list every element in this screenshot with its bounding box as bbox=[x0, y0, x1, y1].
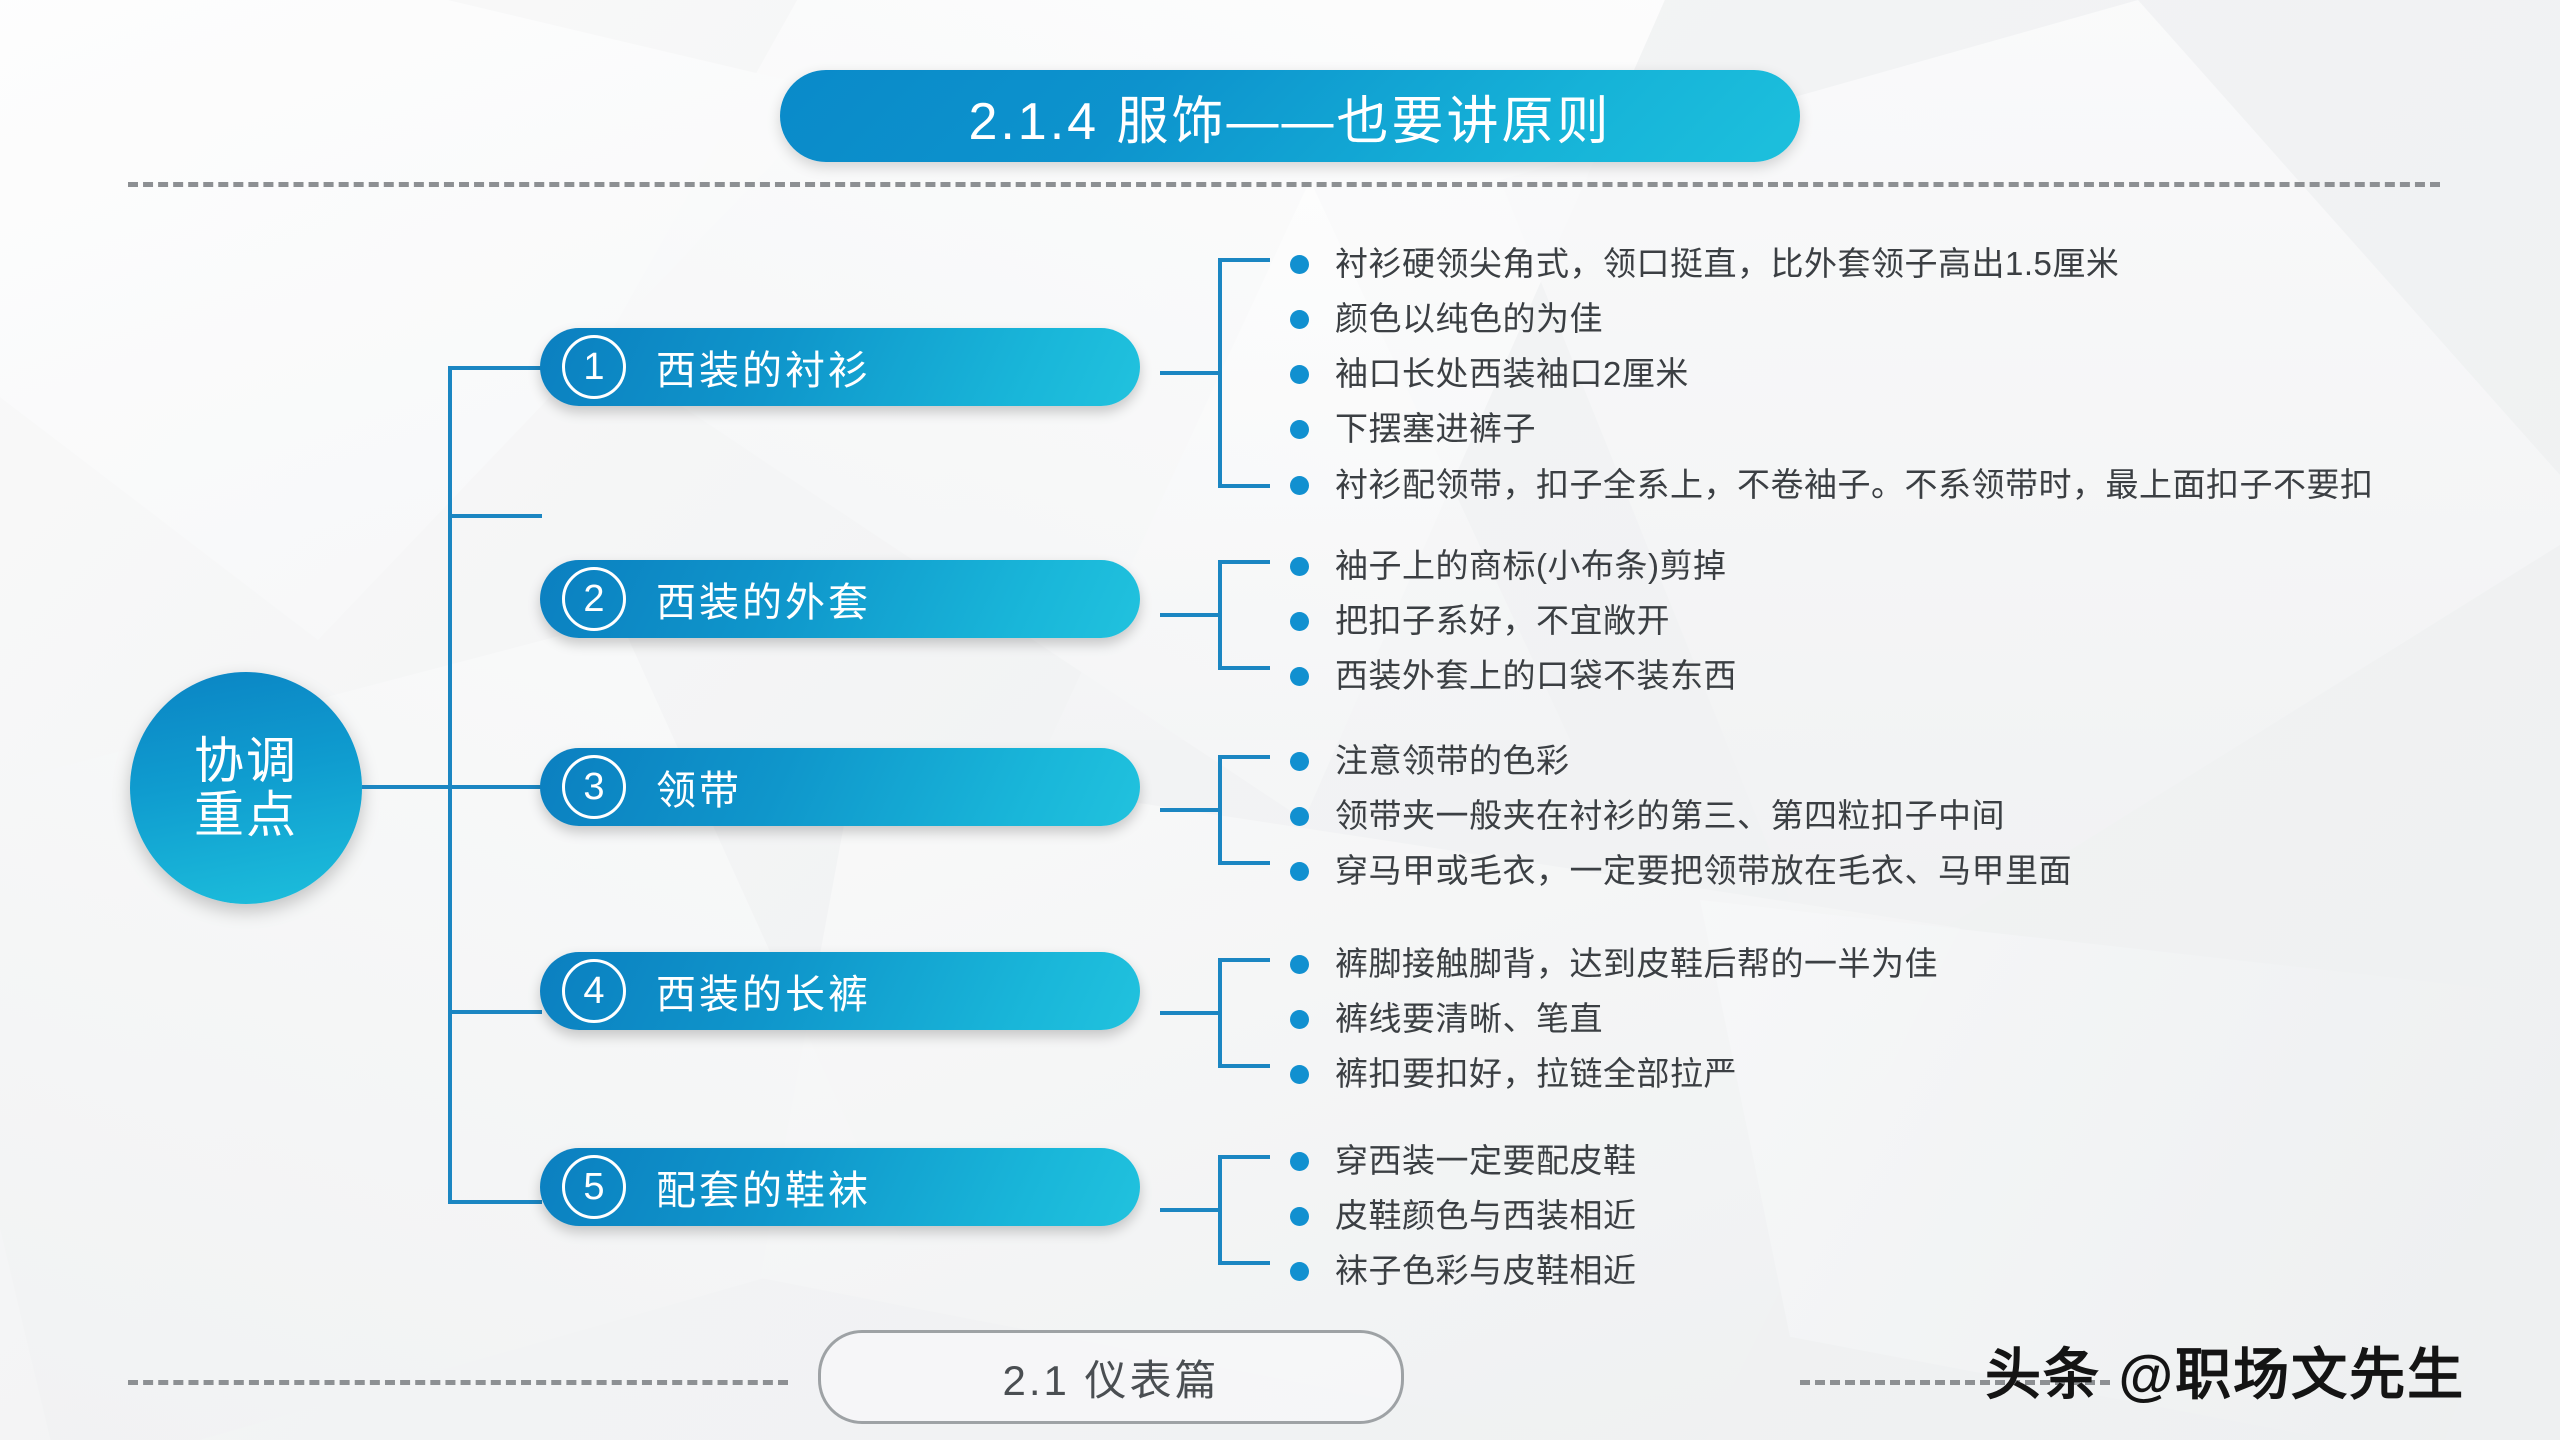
branch-node-3[interactable]: 3 领带 bbox=[540, 748, 1140, 826]
bracket-vertical bbox=[1218, 755, 1222, 865]
page-title: 2.1.4 服饰——也要讲原则 bbox=[968, 79, 1611, 154]
bullet-group-4: 裤脚接触脚背，达到皮鞋后帮的一半为佳 裤线要清晰、笔直 裤扣要扣好，拉链全部拉严 bbox=[1290, 938, 1938, 1103]
bullet-text: 西装外套上的口袋不装东西 bbox=[1335, 650, 1737, 701]
bullet-text: 衬衫配领带，扣子全系上，不卷袖子。不系领带时，最上面扣子不要扣 bbox=[1335, 459, 2374, 510]
bullet-group-3: 注意领带的色彩 领带夹一般夹在衬衫的第三、第四粒扣子中间 穿马甲或毛衣，一定要把… bbox=[1290, 735, 2072, 900]
footer-dashed-divider-left bbox=[128, 1380, 788, 1385]
bullet-dot-icon bbox=[1290, 255, 1309, 274]
branch-number-4: 4 bbox=[562, 959, 626, 1023]
list-item: 西装外套上的口袋不装东西 bbox=[1290, 650, 1737, 701]
list-item: 衬衫硬领尖角式，领口挺直，比外套领子高出1.5厘米 bbox=[1290, 238, 2374, 289]
branch-node-2[interactable]: 2 西装的外套 bbox=[540, 560, 1140, 638]
list-item: 颜色以纯色的为佳 bbox=[1290, 293, 2374, 344]
bracket-bottom-arm bbox=[1218, 666, 1270, 670]
bullet-group-2: 袖子上的商标(小布条)剪掉 把扣子系好，不宜敞开 西装外套上的口袋不装东西 bbox=[1290, 540, 1737, 705]
list-item: 衬衫配领带，扣子全系上，不卷袖子。不系领带时，最上面扣子不要扣 bbox=[1290, 459, 2374, 510]
bullet-dot-icon bbox=[1290, 807, 1309, 826]
bracket-lead-line bbox=[1160, 1011, 1218, 1015]
list-item: 袖子上的商标(小布条)剪掉 bbox=[1290, 540, 1737, 591]
bullet-text: 注意领带的色彩 bbox=[1335, 735, 1570, 786]
list-item: 领带夹一般夹在衬衫的第三、第四粒扣子中间 bbox=[1290, 790, 2072, 841]
bullet-text: 裤线要清晰、笔直 bbox=[1335, 993, 1603, 1044]
bullet-text: 穿西装一定要配皮鞋 bbox=[1335, 1135, 1637, 1186]
top-dashed-divider bbox=[128, 182, 2440, 187]
bracket-vertical bbox=[1218, 1155, 1222, 1265]
branch-number-1: 1 bbox=[562, 335, 626, 399]
core-connector-stub bbox=[362, 785, 450, 789]
bullet-text: 袜子色彩与皮鞋相近 bbox=[1335, 1245, 1637, 1296]
bullet-dot-icon bbox=[1290, 862, 1309, 881]
bullet-group-5: 穿西装一定要配皮鞋 皮鞋颜色与西装相近 袜子色彩与皮鞋相近 bbox=[1290, 1135, 1637, 1300]
footer-label: 2.1 仪表篇 bbox=[1002, 1347, 1219, 1408]
bracket-top-arm bbox=[1218, 958, 1270, 962]
branch-label-2: 西装的外套 bbox=[656, 570, 871, 628]
bullet-text: 下摆塞进裤子 bbox=[1335, 403, 1536, 454]
list-item: 袜子色彩与皮鞋相近 bbox=[1290, 1245, 1637, 1296]
central-node-line2: 重点 bbox=[194, 788, 298, 842]
list-item: 注意领带的色彩 bbox=[1290, 735, 2072, 786]
list-item: 裤线要清晰、笔直 bbox=[1290, 993, 1938, 1044]
bullet-dot-icon bbox=[1290, 1262, 1309, 1281]
branch-label-4: 西装的长裤 bbox=[656, 962, 871, 1020]
branch-node-5[interactable]: 5 配套的鞋袜 bbox=[540, 1148, 1140, 1226]
tree-stub-1 bbox=[448, 366, 542, 370]
branch-number-2: 2 bbox=[562, 567, 626, 631]
bullet-text: 穿马甲或毛衣，一定要把领带放在毛衣、马甲里面 bbox=[1335, 845, 2072, 896]
bracket-vertical bbox=[1218, 560, 1222, 670]
bracket-bottom-arm bbox=[1218, 1261, 1270, 1265]
bracket-lead-line bbox=[1160, 1208, 1218, 1212]
bullet-dot-icon bbox=[1290, 752, 1309, 771]
bullet-dot-icon bbox=[1290, 310, 1309, 329]
bullet-text: 把扣子系好，不宜敞开 bbox=[1335, 595, 1670, 646]
tree-stub-3 bbox=[448, 785, 542, 789]
bullet-text: 裤扣要扣好，拉链全部拉严 bbox=[1335, 1048, 1737, 1099]
bullet-dot-icon bbox=[1290, 955, 1309, 974]
branch-label-1: 西装的衬衫 bbox=[656, 338, 871, 396]
central-node: 协调 重点 bbox=[130, 672, 362, 904]
branch-label-5: 配套的鞋袜 bbox=[656, 1158, 871, 1216]
bracket-top-arm bbox=[1218, 258, 1270, 262]
bullet-dot-icon bbox=[1290, 1207, 1309, 1226]
bullet-text: 皮鞋颜色与西装相近 bbox=[1335, 1190, 1637, 1241]
list-item: 穿西装一定要配皮鞋 bbox=[1290, 1135, 1637, 1186]
watermark-text: 头条 @职场文先生 bbox=[1985, 1330, 2465, 1411]
list-item: 把扣子系好，不宜敞开 bbox=[1290, 595, 1737, 646]
list-item: 袖口长处西装袖口2厘米 bbox=[1290, 348, 2374, 399]
bullet-dot-icon bbox=[1290, 1010, 1309, 1029]
bullet-text: 袖口长处西装袖口2厘米 bbox=[1335, 348, 1689, 399]
slide-title-pill: 2.1.4 服饰——也要讲原则 bbox=[780, 70, 1800, 162]
bracket-top-arm bbox=[1218, 560, 1270, 564]
bracket-lead-line bbox=[1160, 808, 1218, 812]
bullet-group-1: 衬衫硬领尖角式，领口挺直，比外套领子高出1.5厘米 颜色以纯色的为佳 袖口长处西… bbox=[1290, 238, 2374, 514]
list-item: 穿马甲或毛衣，一定要把领带放在毛衣、马甲里面 bbox=[1290, 845, 2072, 896]
central-node-line1: 协调 bbox=[194, 734, 298, 788]
branch-number-5: 5 bbox=[562, 1155, 626, 1219]
list-item: 裤扣要扣好，拉链全部拉严 bbox=[1290, 1048, 1938, 1099]
bullet-dot-icon bbox=[1290, 476, 1309, 495]
bracket-lead-line bbox=[1160, 371, 1218, 375]
bullet-text: 裤脚接触脚背，达到皮鞋后帮的一半为佳 bbox=[1335, 938, 1938, 989]
bullet-dot-icon bbox=[1290, 667, 1309, 686]
bracket-vertical bbox=[1218, 258, 1222, 488]
bracket-top-arm bbox=[1218, 755, 1270, 759]
tree-stub-4 bbox=[448, 1010, 542, 1014]
bullet-text: 颜色以纯色的为佳 bbox=[1335, 293, 1603, 344]
list-item: 皮鞋颜色与西装相近 bbox=[1290, 1190, 1637, 1241]
bullet-dot-icon bbox=[1290, 1065, 1309, 1084]
bullet-text: 衬衫硬领尖角式，领口挺直，比外套领子高出1.5厘米 bbox=[1335, 238, 2119, 289]
tree-stub-2 bbox=[448, 514, 542, 518]
slide-background bbox=[0, 0, 2560, 1440]
bullet-dot-icon bbox=[1290, 557, 1309, 576]
bullet-dot-icon bbox=[1290, 1152, 1309, 1171]
list-item: 裤脚接触脚背，达到皮鞋后帮的一半为佳 bbox=[1290, 938, 1938, 989]
bullet-text: 领带夹一般夹在衬衫的第三、第四粒扣子中间 bbox=[1335, 790, 2005, 841]
list-item: 下摆塞进裤子 bbox=[1290, 403, 2374, 454]
tree-stub-5 bbox=[448, 1200, 542, 1204]
branch-node-1[interactable]: 1 西装的衬衫 bbox=[540, 328, 1140, 406]
bracket-vertical bbox=[1218, 958, 1222, 1068]
branch-node-4[interactable]: 4 西装的长裤 bbox=[540, 952, 1140, 1030]
bracket-bottom-arm bbox=[1218, 861, 1270, 865]
bracket-top-arm bbox=[1218, 1155, 1270, 1159]
bullet-dot-icon bbox=[1290, 365, 1309, 384]
branch-number-3: 3 bbox=[562, 755, 626, 819]
branch-label-3: 领带 bbox=[656, 758, 742, 816]
bracket-bottom-arm bbox=[1218, 484, 1270, 488]
bracket-bottom-arm bbox=[1218, 1064, 1270, 1068]
bullet-dot-icon bbox=[1290, 420, 1309, 439]
bracket-lead-line bbox=[1160, 613, 1218, 617]
bullet-dot-icon bbox=[1290, 612, 1309, 631]
bullet-text: 袖子上的商标(小布条)剪掉 bbox=[1335, 540, 1726, 591]
footer-section-pill: 2.1 仪表篇 bbox=[818, 1330, 1404, 1424]
